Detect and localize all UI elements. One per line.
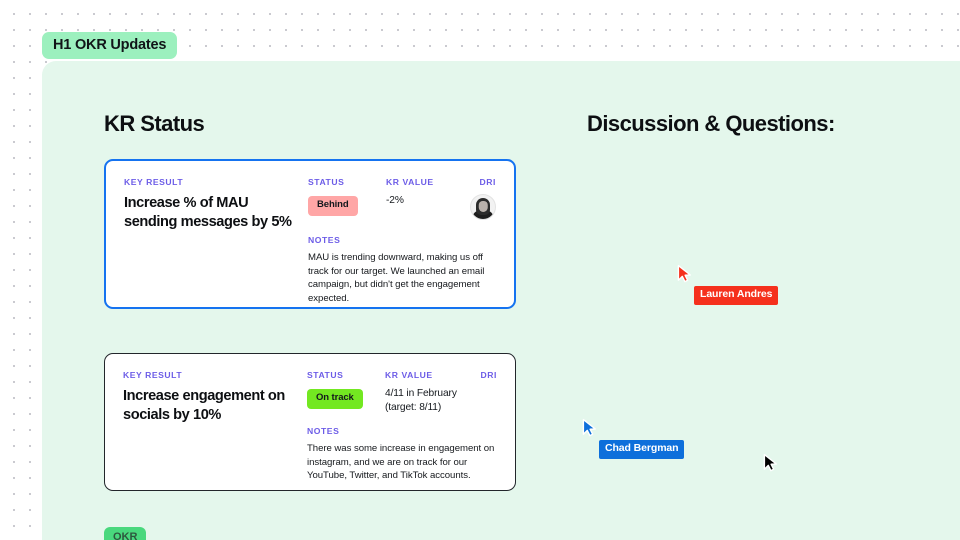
- col-header-dri: DRI: [466, 177, 496, 187]
- kr-card-2-notes: NOTES There was some increase in engagem…: [307, 426, 499, 483]
- col-header-notes: NOTES: [307, 426, 499, 436]
- kr-card-1-title: Increase % of MAU sending messages by 5%: [124, 194, 300, 231]
- kr-card-1-status-badge[interactable]: Behind: [308, 196, 358, 216]
- kr-card-1[interactable]: KEY RESULT Increase % of MAU sending mes…: [104, 159, 516, 309]
- kr-card-2[interactable]: KEY RESULT Increase engagement on social…: [104, 353, 516, 491]
- col-header-key-result: KEY RESULT: [123, 370, 299, 380]
- kr-card-2-title: Increase engagement on socials by 10%: [123, 387, 299, 424]
- cursor-label-lauren: Lauren Andres: [694, 286, 778, 305]
- avatar[interactable]: [470, 194, 496, 220]
- kr-card-2-value: 4/11 in February (target: 8/11): [385, 387, 465, 415]
- kr-card-2-status-badge[interactable]: On track: [307, 389, 363, 409]
- kr-status-heading: KR Status: [104, 111, 204, 137]
- pointer-arrow-icon: [762, 453, 780, 473]
- col-header-kr-value: KR VALUE: [385, 370, 465, 380]
- col-header-dri: DRI: [465, 370, 497, 380]
- cursor-label-chad: Chad Bergman: [599, 440, 684, 459]
- kr-card-1-key-result-col: KEY RESULT Increase % of MAU sending mes…: [124, 177, 308, 293]
- cursor-arrow-icon: [581, 418, 599, 438]
- col-header-notes: NOTES: [308, 235, 498, 245]
- avatar-face: [479, 201, 488, 212]
- kr-card-2-notes-text: There was some increase in engagement on…: [307, 442, 499, 483]
- cursor-arrow-icon: [676, 264, 694, 284]
- col-header-status: STATUS: [307, 370, 385, 380]
- whiteboard-canvas[interactable]: H1 OKR Updates KR Status Discussion & Qu…: [0, 0, 960, 540]
- kr-card-1-notes: NOTES MAU is trending downward, making u…: [308, 235, 498, 306]
- frame-title-chip[interactable]: H1 OKR Updates: [42, 32, 177, 59]
- kr-card-1-notes-text: MAU is trending downward, making us off …: [308, 251, 498, 306]
- kr-card-2-key-result-col: KEY RESULT Increase engagement on social…: [123, 370, 307, 476]
- bottom-partial-chip[interactable]: OKR: [104, 527, 146, 540]
- kr-card-1-value: -2%: [386, 194, 466, 208]
- col-header-kr-value: KR VALUE: [386, 177, 466, 187]
- col-header-status: STATUS: [308, 177, 386, 187]
- okr-frame[interactable]: KR Status Discussion & Questions: KEY RE…: [42, 61, 960, 540]
- col-header-key-result: KEY RESULT: [124, 177, 300, 187]
- discussion-questions-heading: Discussion & Questions:: [587, 111, 835, 137]
